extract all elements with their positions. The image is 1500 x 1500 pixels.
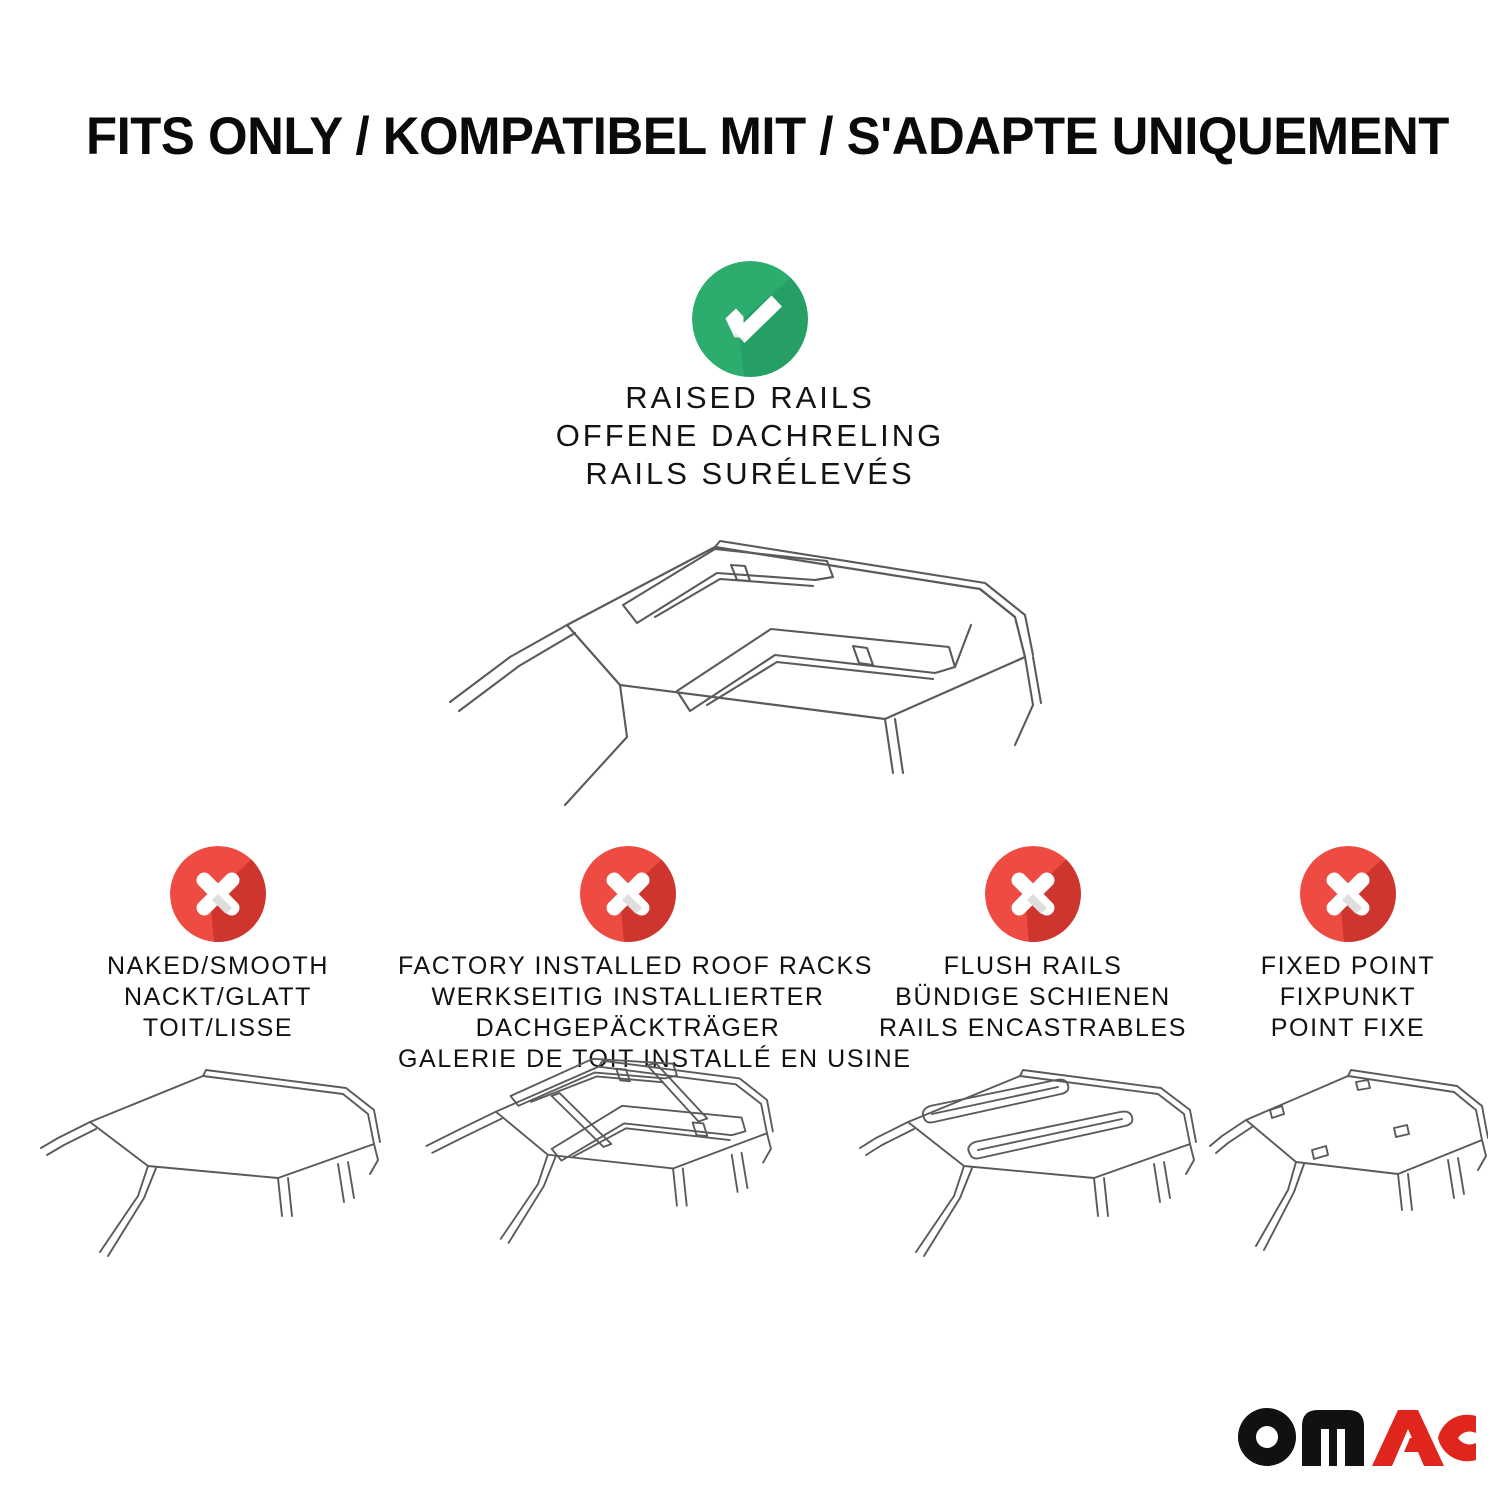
option-label-en: NAKED/SMOOTH (38, 951, 398, 982)
car-roof-factory-racks-illustration (398, 1051, 858, 1281)
compatible-label-fr: RAILS SURÉLEVÉS (250, 455, 1250, 493)
incompatible-section: NAKED/SMOOTH NACKT/GLATT TOIT/LISSE (0, 846, 1500, 1486)
car-roof-flush-rails-illustration (858, 1056, 1208, 1286)
check-circle-glyph (692, 261, 808, 377)
logo-letter-a (1372, 1410, 1444, 1466)
logo-letter-m (1302, 1410, 1364, 1466)
option-label-de-1: WERKSEITIG INSTALLIERTER (398, 982, 858, 1013)
car-roof-naked-smooth-illustration (38, 1056, 398, 1286)
option-label-de: FIXPUNKT (1208, 982, 1488, 1013)
check-circle-icon (692, 261, 808, 377)
compatible-labels: RAISED RAILS OFFENE DACHRELING RAILS SUR… (250, 379, 1250, 493)
omac-logo (1232, 1402, 1476, 1474)
option-label-de: BÜNDIGE SCHIENEN (858, 982, 1208, 1013)
car-roof-raised-rails-illustration (415, 505, 1105, 825)
logo-letter-c (1438, 1415, 1476, 1462)
compatible-label-en: RAISED RAILS (250, 379, 1250, 417)
cross-circle-icon (985, 846, 1081, 942)
option-labels: FLUSH RAILS BÜNDIGE SCHIENEN RAILS ENCAS… (858, 951, 1208, 1044)
car-roof-fixed-point-illustration (1208, 1056, 1488, 1286)
option-label-de-2: DACHGEPÄCKTRÄGER (398, 1013, 858, 1044)
option-label-en: FLUSH RAILS (858, 951, 1208, 982)
cross-circle-glyph (170, 846, 266, 942)
cross-circle-icon (170, 846, 266, 942)
cross-circle-glyph (1300, 846, 1396, 942)
logo-letter-o (1238, 1408, 1296, 1466)
option-label-en: FACTORY INSTALLED ROOF RACKS (398, 951, 858, 982)
cross-circle-glyph (985, 846, 1081, 942)
option-label-fr: POINT FIXE (1208, 1013, 1488, 1044)
option-labels: FIXED POINT FIXPUNKT POINT FIXE (1208, 951, 1488, 1044)
page-title: FITS ONLY / KOMPATIBEL MIT / S'ADAPTE UN… (86, 106, 1372, 168)
cross-circle-glyph (580, 846, 676, 942)
option-label-fr: RAILS ENCASTRABLES (858, 1013, 1208, 1044)
option-labels: NAKED/SMOOTH NACKT/GLATT TOIT/LISSE (38, 951, 398, 1044)
cross-circle-icon (580, 846, 676, 942)
option-label-de: NACKT/GLATT (38, 982, 398, 1013)
option-label-en: FIXED POINT (1208, 951, 1488, 982)
option-label-fr: TOIT/LISSE (38, 1013, 398, 1044)
cross-circle-icon (1300, 846, 1396, 942)
compatible-label-de: OFFENE DACHRELING (250, 417, 1250, 455)
